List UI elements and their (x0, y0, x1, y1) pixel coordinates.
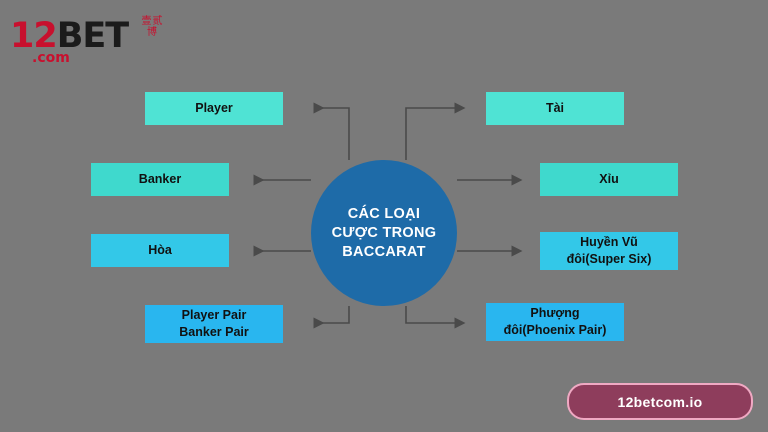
logo-chinese-characters: 壹 贰 博 (134, 16, 170, 62)
node-super-six[interactable]: Huyền Vũ đôi(Super Six) (540, 232, 678, 270)
logo-cn-char-3: 博 (147, 27, 157, 38)
diagram-canvas: 12BET .com 壹 贰 博 (0, 0, 768, 432)
diagram-hub: CÁC LOẠI CƯỢC TRONG BACCARAT (311, 160, 457, 306)
brand-logo: 12BET .com 壹 贰 博 (10, 10, 180, 70)
node-hoa[interactable]: Hòa (91, 234, 229, 267)
logo-wordmark: 12BET (10, 18, 128, 54)
watermark-badge: 12betcom.io (567, 383, 753, 420)
node-xiu-label: Xỉu (599, 171, 618, 188)
node-phoenix-pair[interactable]: Phượng đôi(Phoenix Pair) (486, 303, 624, 341)
node-hoa-label: Hòa (148, 242, 172, 259)
logo-text-domain: .com (32, 50, 70, 66)
node-pairs-label: Player Pair Banker Pair (179, 307, 248, 341)
node-player-pair-banker-pair[interactable]: Player Pair Banker Pair (145, 305, 283, 343)
node-banker-label: Banker (139, 171, 181, 188)
node-player-label: Player (195, 100, 233, 117)
node-player[interactable]: Player (145, 92, 283, 125)
node-banker[interactable]: Banker (91, 163, 229, 196)
watermark-label: 12betcom.io (618, 394, 703, 410)
node-phoenix-pair-label: Phượng đôi(Phoenix Pair) (504, 305, 607, 339)
node-tai[interactable]: Tài (486, 92, 624, 125)
hub-label: CÁC LOẠI CƯỢC TRONG BACCARAT (332, 205, 437, 262)
node-tai-label: Tài (546, 100, 564, 117)
logo-cn-char-1: 壹 (142, 16, 152, 27)
node-xiu[interactable]: Xỉu (540, 163, 678, 196)
logo-cn-char-2: 贰 (153, 16, 163, 27)
node-super-six-label: Huyền Vũ đôi(Super Six) (567, 234, 652, 268)
